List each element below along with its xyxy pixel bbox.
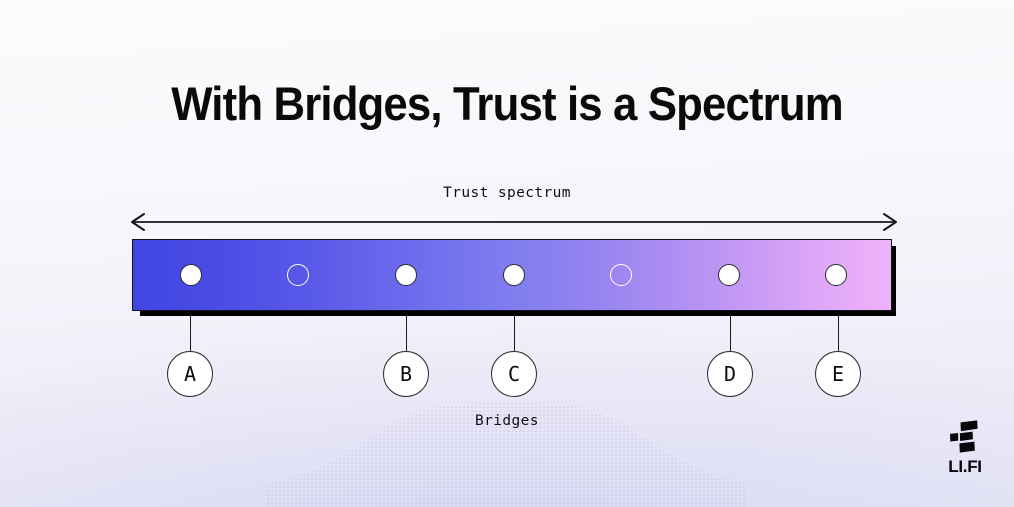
bridge-marker-e-label: E	[832, 362, 844, 386]
connector-c	[514, 316, 515, 351]
bridge-marker-d-label: D	[724, 362, 736, 386]
lifi-wordmark: LI.FI	[925, 457, 1005, 477]
bridge-node-5[interactable]	[610, 264, 632, 286]
double-arrow-icon	[128, 209, 900, 235]
infographic-canvas: With Bridges, Trust is a Spectrum Trust …	[0, 0, 1014, 507]
connector-d	[730, 316, 731, 351]
trust-spectrum-label: Trust spectrum	[0, 185, 1014, 201]
bridge-marker-d[interactable]: D	[707, 351, 753, 397]
bridge-marker-b[interactable]: B	[383, 351, 429, 397]
bridge-node-4[interactable]	[503, 264, 525, 286]
bridge-node-6[interactable]	[718, 264, 740, 286]
bridge-node-3[interactable]	[395, 264, 417, 286]
bridge-node-7[interactable]	[825, 264, 847, 286]
bridge-marker-c[interactable]: C	[491, 351, 537, 397]
connector-a	[190, 316, 191, 351]
bridge-marker-e[interactable]: E	[815, 351, 861, 397]
bridge-node-1[interactable]	[180, 264, 202, 286]
connector-b	[406, 316, 407, 351]
bridges-axis-label: Bridges	[0, 413, 1014, 429]
bridge-marker-a-label: A	[184, 362, 196, 386]
bridge-marker-c-label: C	[508, 362, 520, 386]
lifi-logo[interactable]: LI.FI	[925, 420, 1005, 480]
bridge-marker-b-label: B	[400, 362, 412, 386]
bridge-node-2[interactable]	[287, 264, 309, 286]
spectrum-bar	[132, 239, 892, 311]
connector-e	[838, 316, 839, 351]
lifi-f-mark-icon	[947, 420, 983, 456]
page-title: With Bridges, Trust is a Spectrum	[35, 76, 978, 131]
bridge-marker-a[interactable]: A	[167, 351, 213, 397]
